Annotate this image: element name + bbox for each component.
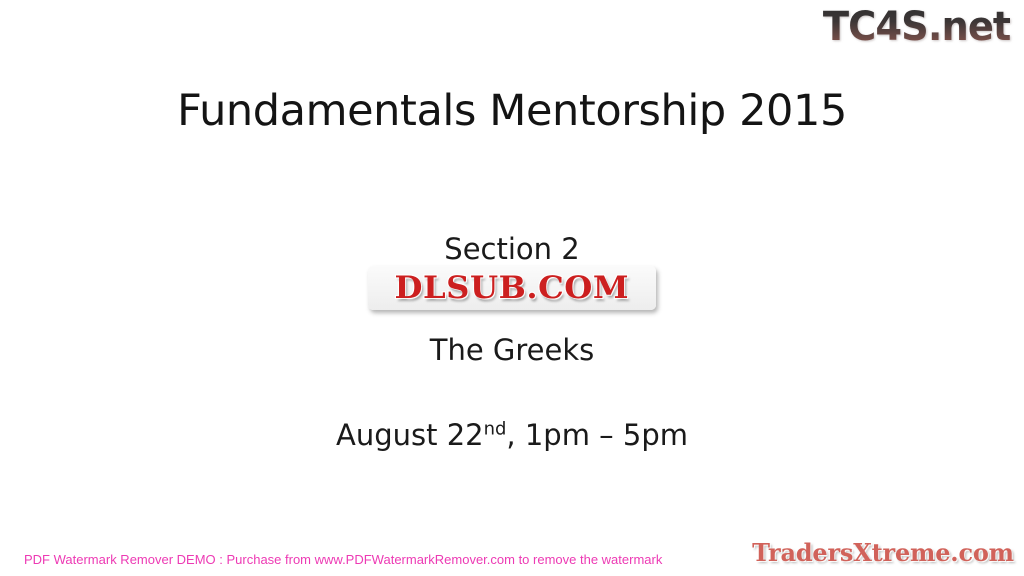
slide-date-line: August 22nd, 1pm – 5pm	[0, 418, 1024, 452]
tc4s-watermark-logo: TC4S.net	[832, 2, 1014, 52]
page-title: Fundamentals Mentorship 2015	[0, 86, 1024, 136]
dlsub-watermark-label: DLSUB.COM	[395, 270, 630, 306]
slide-subtitle: The Greeks	[0, 333, 1024, 367]
tradersxtreme-watermark-logo: TradersXtreme.com	[752, 536, 1014, 568]
date-prefix: August 22	[336, 418, 484, 452]
tradersxtreme-watermark-label: TradersXtreme.com	[752, 538, 1014, 567]
tc4s-watermark-label: TC4S.net	[823, 4, 1010, 50]
date-ordinal-suffix: nd	[484, 418, 507, 439]
presentation-slide: Fundamentals Mentorship 2015 Section 2 D…	[0, 0, 1024, 576]
dlsub-watermark-logo: DLSUB.COM	[368, 266, 656, 310]
date-time-range: , 1pm – 5pm	[506, 418, 688, 452]
pdf-watermark-demo-banner: PDF Watermark Remover DEMO : Purchase fr…	[24, 552, 662, 567]
section-heading: Section 2	[0, 232, 1024, 266]
